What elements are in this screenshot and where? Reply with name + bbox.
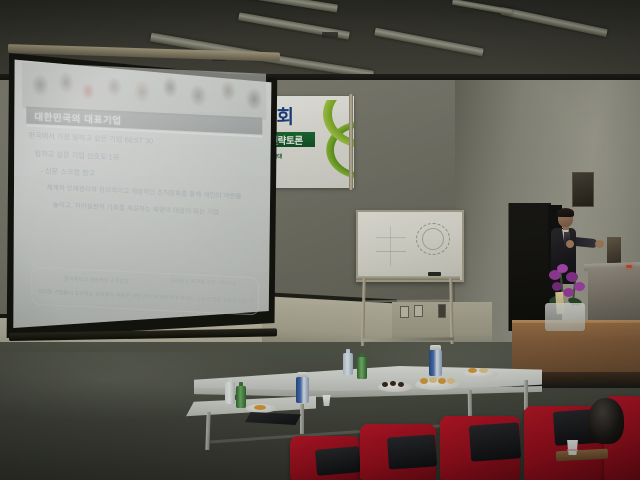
slide-body: 한국에서 가장 일하고 싶은 기업 BEST 30 일하고 싶은 기업 선호도 … bbox=[28, 131, 263, 272]
seat-tablet-arm bbox=[387, 434, 437, 469]
orchid-flower bbox=[552, 282, 562, 291]
fruit-item bbox=[429, 377, 437, 383]
snack-item bbox=[468, 368, 477, 373]
fruit-item bbox=[447, 378, 455, 384]
orchid-flower bbox=[563, 288, 574, 297]
whiteboard-marker bbox=[428, 272, 441, 276]
presenter-hand bbox=[566, 240, 574, 248]
snack-item bbox=[479, 368, 488, 373]
slide-title: 대한민국의 대표기업 bbox=[26, 108, 121, 126]
slide-bullet: - 신문 스크랩 참고 bbox=[41, 167, 263, 187]
whiteboard bbox=[356, 210, 464, 282]
snack-item bbox=[390, 381, 396, 386]
orchid-flower bbox=[566, 272, 578, 282]
table-leg bbox=[300, 404, 304, 434]
whiteboard-sketch bbox=[422, 228, 444, 250]
banner-pole bbox=[349, 94, 353, 190]
bottle-body bbox=[343, 353, 353, 375]
snack-item bbox=[254, 405, 266, 410]
auditorium-seat bbox=[360, 424, 444, 480]
seated-audience-head bbox=[588, 398, 624, 444]
wall-outlet bbox=[400, 306, 409, 318]
slide-bullet: 체계적 인재관리와 창의적이고 개방적인 조직문화를 통해 개인의 역량을 bbox=[47, 185, 263, 204]
snack-item bbox=[382, 382, 388, 387]
plant-pot-wrapper bbox=[545, 303, 585, 331]
orchid-flower bbox=[574, 282, 585, 291]
fruit-item bbox=[438, 378, 446, 384]
slide-footer-box: 창의적이고 개방적인 조직문화 자아실현 욕구를 위한 기회제공 이러한 기업들… bbox=[31, 267, 259, 316]
fruit-item bbox=[420, 378, 428, 384]
flask-body bbox=[296, 377, 309, 403]
wall-speaker-box bbox=[607, 237, 621, 263]
presentation-slide: 대한민국의 대표기업 한국에서 가장 일하고 싶은 기업 BEST 30 일하고… bbox=[16, 58, 271, 342]
ceiling-vent bbox=[322, 32, 338, 38]
ceiling-light-fixture bbox=[500, 7, 607, 37]
snack-item bbox=[398, 382, 404, 387]
auditorium-seat bbox=[290, 432, 368, 480]
bottle-body bbox=[357, 357, 367, 379]
slide-footer-text: 창의적이고 개방적인 조직문화 bbox=[64, 275, 129, 285]
auditorium-seat bbox=[440, 416, 528, 480]
bottle-body bbox=[225, 382, 235, 404]
ceiling-light-fixture bbox=[374, 28, 484, 57]
conference-room-photo: 수회 전략토론 한양공학대 대한민국의 대표기업 한국에서 가장 일하고 싶은 … bbox=[0, 0, 640, 480]
ceiling-light-fixture bbox=[228, 0, 338, 13]
flask-body bbox=[429, 350, 442, 376]
whiteboard-marker-tray bbox=[356, 276, 460, 280]
wall-outlet bbox=[414, 305, 423, 317]
slide-footer-text: 자아실현 욕구를 위한 기회제공 bbox=[170, 277, 236, 287]
bottle-body bbox=[236, 386, 246, 408]
presenter-hair bbox=[557, 208, 574, 217]
seat-tablet-arm bbox=[315, 446, 361, 476]
slide-bullet: 일하고 싶은 기업 선호도 1위 bbox=[34, 149, 262, 169]
orchid-flower bbox=[557, 264, 568, 273]
ceiling-vent bbox=[458, 8, 474, 13]
cup-band bbox=[567, 449, 578, 451]
wall-outlet bbox=[438, 304, 446, 318]
whiteboard-sketch bbox=[376, 226, 406, 266]
wall-speaker-box bbox=[572, 172, 594, 207]
indicator-light bbox=[626, 265, 632, 268]
slide-footer-text: 이러한 기업들이 요구하는 우리들의 덕목은 어떤 것이 되어야 하며 우리는 … bbox=[38, 288, 255, 305]
seat-tablet-arm bbox=[469, 422, 521, 461]
slide-bullet: 높이고, 자아실현적 기회를 제공하는 희망의 대상이 되는 기업 bbox=[53, 202, 263, 221]
